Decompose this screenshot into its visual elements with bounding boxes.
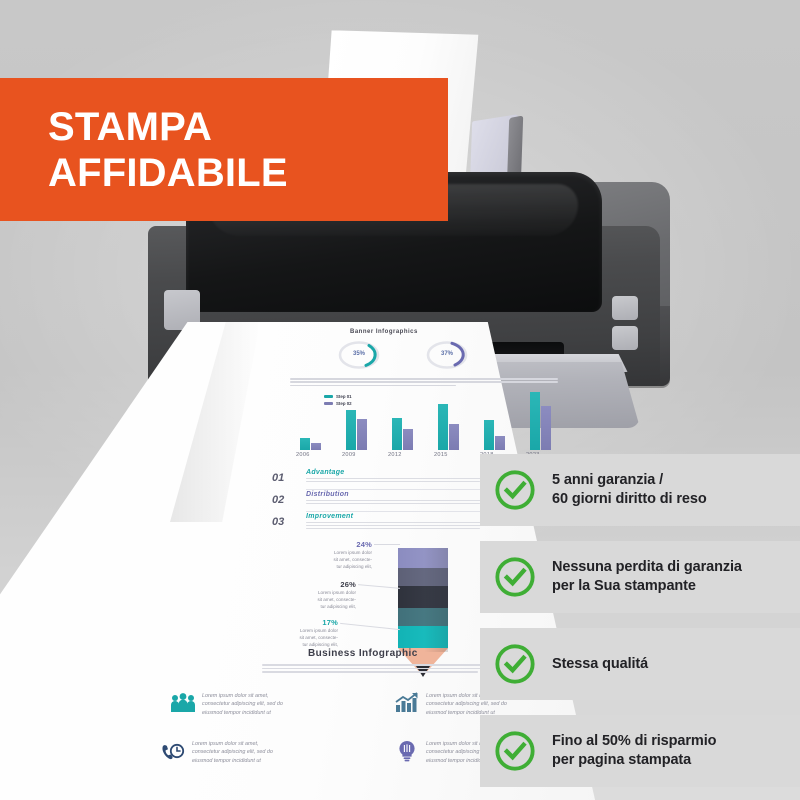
- headline-banner: STAMPA AFFIDABILE: [0, 78, 448, 221]
- badge-savings[interactable]: Fino al 50% di risparmio per pagina stam…: [480, 715, 800, 787]
- list-item-number: 03: [272, 516, 284, 528]
- callout-24-text: Lorem ipsum dolor sit amet, consecte- tu…: [276, 550, 372, 571]
- check-circle-icon: [494, 469, 536, 511]
- list-item-number: 01: [272, 472, 284, 484]
- bar-2009-step01: [346, 410, 356, 450]
- bar-2018-step02: [495, 436, 505, 450]
- legend-item-step02: Step 02: [324, 401, 352, 406]
- x-tick-2009: 2009: [342, 452, 356, 458]
- badge-warranty-text: 5 anni garanzia / 60 giorni diritto di r…: [552, 471, 707, 509]
- donut-chart-group: 35% 37%: [328, 340, 508, 374]
- badge-savings-text: Fino al 50% di risparmio per pagina stam…: [552, 732, 716, 770]
- check-circle-icon: [494, 643, 536, 685]
- donut-chart-2-label: 37%: [424, 351, 470, 357]
- check-circle-icon: [494, 556, 536, 598]
- bar-2015-step02: [449, 424, 459, 450]
- donut-chart-2: 37%: [424, 340, 470, 370]
- donut-chart-1: 35%: [336, 340, 382, 370]
- feature-people: Lorem ipsum dolor sit amet, consectetur …: [170, 692, 366, 717]
- bar-2006-step02: [311, 443, 321, 450]
- bar-2023-step01: [530, 392, 540, 450]
- bar-2023-step02: [541, 406, 551, 450]
- feature-support: Lorem ipsum dolor sit amet, consectetur …: [160, 740, 356, 765]
- badge-warranty[interactable]: 5 anni garanzia / 60 giorni diritto di r…: [480, 454, 800, 526]
- intro-paragraph-placeholder: [290, 378, 558, 388]
- infographic-title: Banner Infographics: [350, 329, 418, 335]
- panel-button-right-top[interactable]: [612, 296, 638, 320]
- badge-no-warranty-loss[interactable]: Nessuna perdita di garanzia per la Sua s…: [480, 541, 800, 613]
- bar-2012-step02: [403, 429, 413, 450]
- list-item-heading: Improvement: [306, 513, 353, 520]
- bar-chart-legend: Step 01 Step 02: [324, 394, 352, 407]
- list-item-number: 02: [272, 494, 284, 506]
- phone-clock-icon: [160, 740, 184, 762]
- bar-2006-step01: [300, 438, 310, 450]
- list-item-heading: Distribution: [306, 491, 349, 498]
- callout-26-text: Lorem ipsum dolor sit amet, consecte- tu…: [260, 590, 356, 611]
- legend-item-step01: Step 01: [324, 394, 352, 399]
- legend-label-step01: Step 01: [336, 394, 352, 399]
- list-item-heading: Advantage: [306, 469, 345, 476]
- legend-swatch-step01: [324, 395, 333, 398]
- feature-people-text: Lorem ipsum dolor sit amet, consectetur …: [202, 692, 283, 717]
- lightbulb-idea-icon: [394, 740, 418, 762]
- growth-chart-icon: [394, 692, 418, 714]
- bar-2018-step01: [484, 420, 494, 450]
- badge-same-quality[interactable]: Stessa qualitá: [480, 628, 800, 700]
- donut-chart-1-label: 35%: [336, 351, 382, 357]
- callout-26: 26% Lorem ipsum dolor sit amet, consecte…: [260, 580, 356, 611]
- bar-2012-step01: [392, 418, 402, 450]
- legend-label-step02: Step 02: [336, 401, 352, 406]
- feature-support-text: Lorem ipsum dolor sit amet, consectetur …: [192, 740, 273, 765]
- callout-24-percent: 24%: [276, 540, 372, 549]
- callout-26-percent: 26%: [260, 580, 356, 589]
- poster-canvas: Banner Infographics 35% 37%: [0, 0, 800, 800]
- x-tick-2006: 2006: [296, 452, 310, 458]
- page-title: STAMPA AFFIDABILE: [48, 104, 288, 197]
- check-circle-icon: [494, 730, 536, 772]
- business-infographic-title: Business Infographic: [308, 648, 418, 659]
- feature-badge-list: 5 anni garanzia / 60 giorni diritto di r…: [480, 454, 800, 800]
- panel-button-right-bottom[interactable]: [612, 326, 638, 350]
- bar-2009-step02: [357, 419, 367, 450]
- bar-2015-step01: [438, 404, 448, 450]
- legend-swatch-step02: [324, 402, 333, 405]
- badge-same-quality-text: Stessa qualitá: [552, 655, 648, 674]
- badge-no-warranty-loss-text: Nessuna perdita di garanzia per la Sua s…: [552, 558, 742, 596]
- callout-24: 24% Lorem ipsum dolor sit amet, consecte…: [276, 540, 372, 571]
- people-group-icon: [170, 692, 194, 714]
- x-tick-2012: 2012: [388, 452, 402, 458]
- callout-17-percent: 17%: [242, 618, 338, 627]
- callout-17-text: Lorem ipsum dolor sit amet, consecte- tu…: [242, 628, 338, 649]
- x-tick-2015: 2015: [434, 452, 448, 458]
- callout-17: 17% Lorem ipsum dolor sit amet, consecte…: [242, 618, 338, 649]
